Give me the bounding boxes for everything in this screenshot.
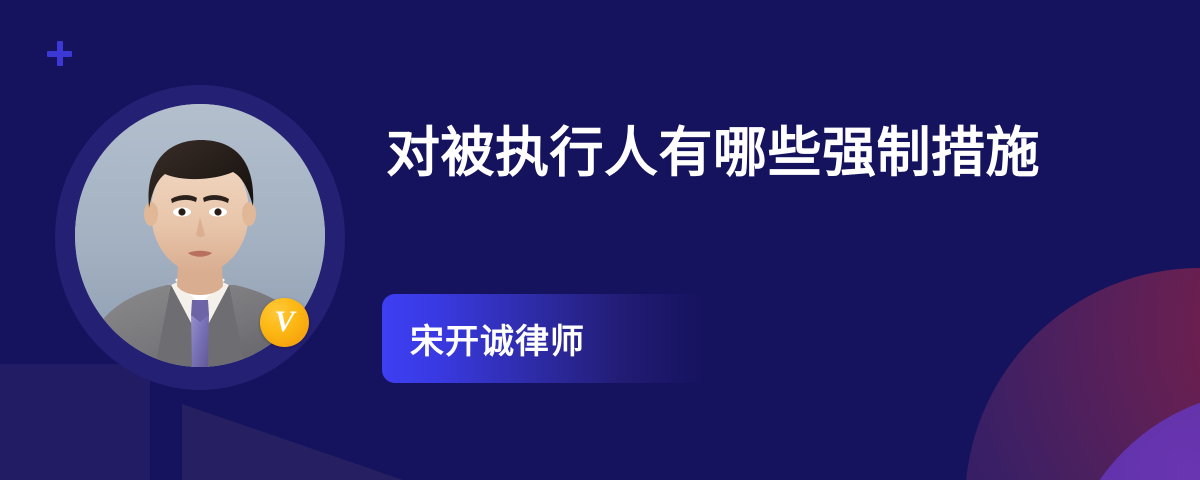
decorative-circle-crimson [965, 268, 1200, 480]
verified-badge-icon: V [260, 298, 309, 347]
decorative-triangle-middle [182, 404, 432, 480]
text-block: 对被执行人有哪些强制措施 宋开诚律师 [386, 118, 1076, 189]
page-title: 对被执行人有哪些强制措施 [386, 118, 1046, 189]
author-name-badge[interactable]: 宋开诚律师 [382, 294, 707, 383]
plus-icon [47, 41, 72, 66]
verified-badge-glyph: V [274, 307, 294, 337]
decorative-circle-purple [1062, 390, 1200, 480]
lawyer-article-banner: V 对被执行人有哪些强制措施 宋开诚律师 [0, 0, 1200, 480]
author-name-label: 宋开诚律师 [382, 314, 585, 363]
avatar[interactable]: V [55, 85, 345, 390]
